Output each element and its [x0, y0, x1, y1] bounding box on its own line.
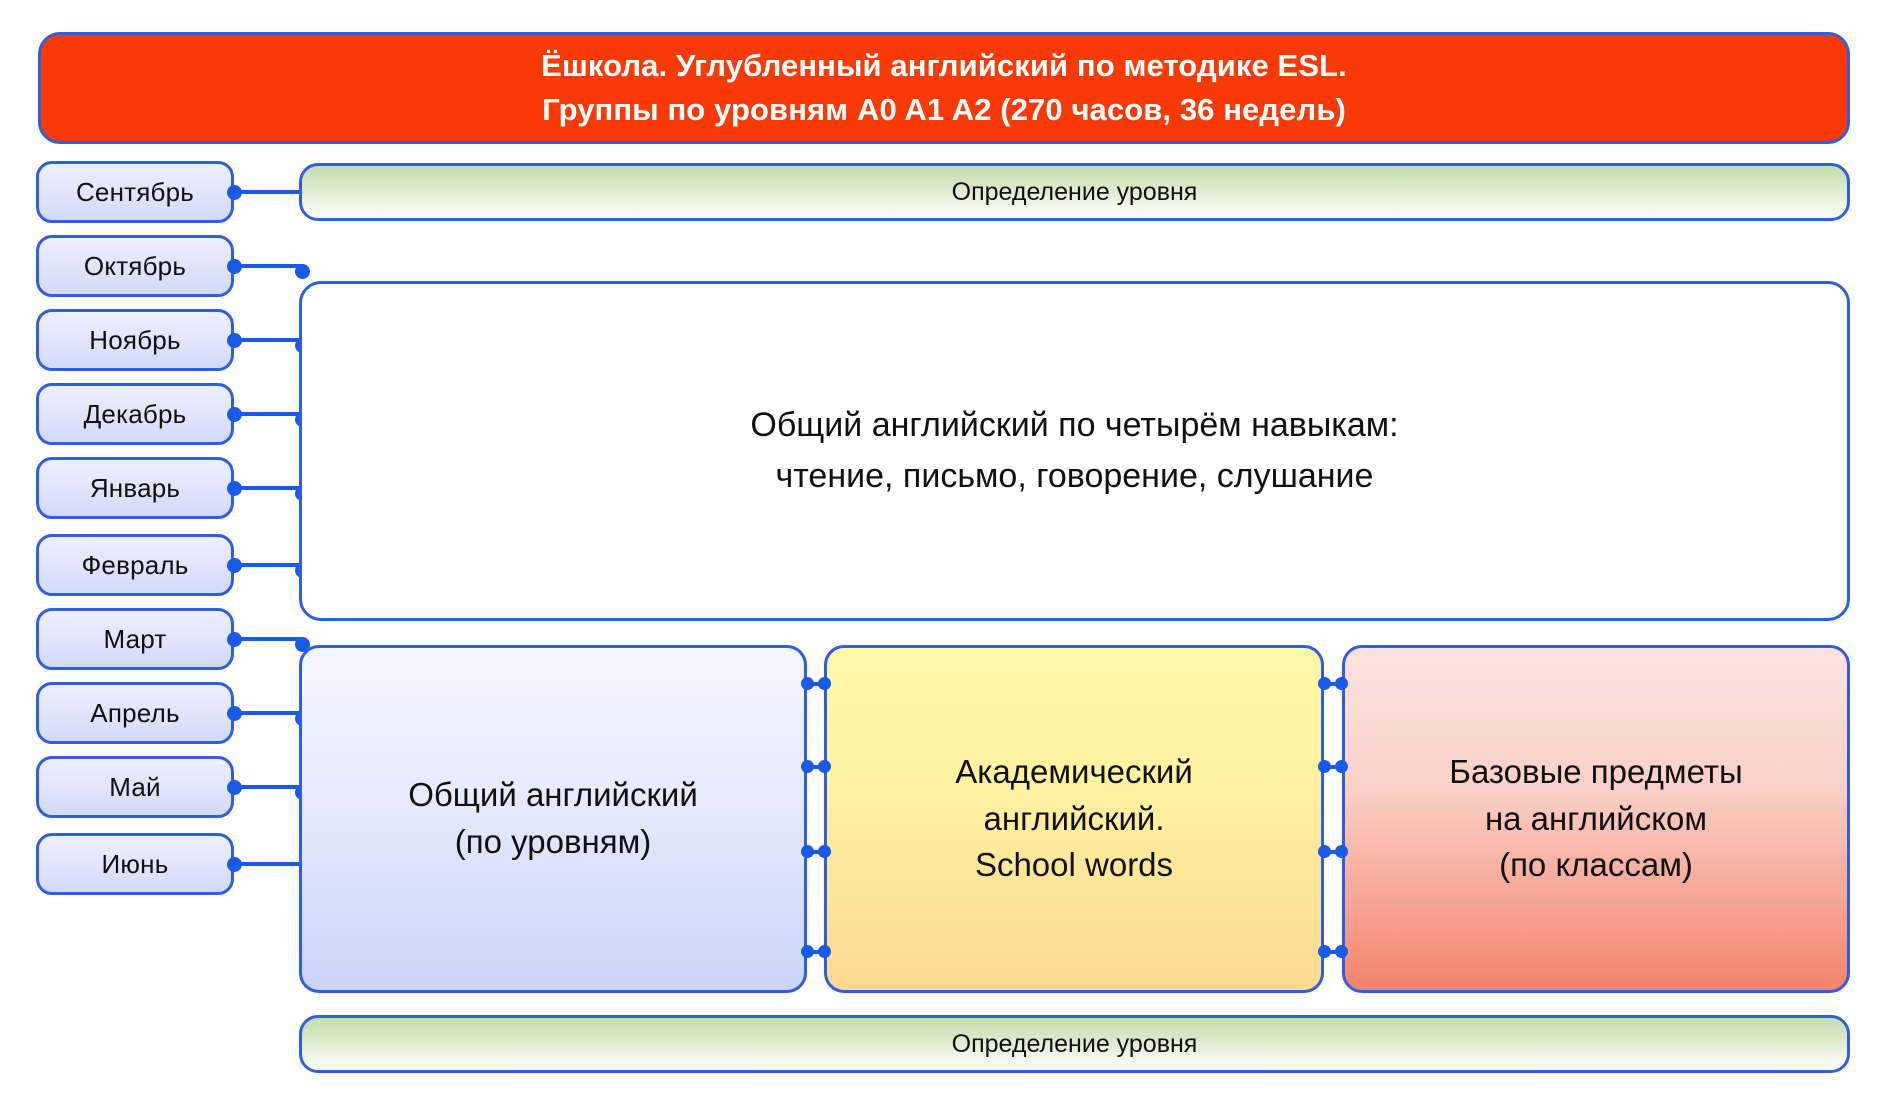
- link-line-april: [234, 711, 302, 715]
- connector-yellow-red-bottom: [1318, 945, 1348, 958]
- link-line-october: [234, 264, 302, 268]
- link-line-december: [234, 412, 302, 416]
- month-pill-january[interactable]: Январь: [36, 457, 234, 519]
- link-line-may: [234, 785, 302, 789]
- link-line-september: [234, 190, 302, 194]
- link-line-february: [234, 563, 302, 567]
- month-label: Март: [103, 624, 166, 655]
- month-label: Январь: [90, 473, 180, 504]
- subject-line-1: Академический: [955, 749, 1193, 796]
- subject-box-academic-english[interactable]: Академический английский. School words: [824, 645, 1324, 993]
- month-pill-october[interactable]: Октябрь: [36, 235, 234, 297]
- general-block-line-1: Общий английский по четырём навыкам:: [750, 400, 1398, 451]
- month-pill-may[interactable]: Май: [36, 756, 234, 818]
- month-label: Ноябрь: [89, 325, 180, 356]
- subject-line-1: Базовые предметы: [1449, 749, 1742, 796]
- month-label: Октябрь: [84, 251, 186, 282]
- header-line-1: Ёшкола. Углубленный английский по методи…: [541, 44, 1347, 88]
- month-pill-september[interactable]: Сентябрь: [36, 161, 234, 223]
- month-pill-november[interactable]: Ноябрь: [36, 309, 234, 371]
- month-pill-april[interactable]: Апрель: [36, 682, 234, 744]
- month-label: Февраль: [81, 550, 188, 581]
- subject-line-3: (по классам): [1499, 842, 1693, 889]
- link-line-november: [234, 338, 302, 342]
- general-english-block: Общий английский по четырём навыкам: чте…: [299, 281, 1850, 621]
- diagram-canvas: Ёшкола. Углубленный английский по методи…: [0, 0, 1890, 1103]
- link-line-march: [234, 637, 302, 641]
- month-label: Сентябрь: [76, 177, 194, 208]
- subject-line-2: на английском: [1485, 796, 1707, 843]
- subject-line-2: (по уровням): [455, 819, 652, 866]
- diagram-header: Ёшкола. Углубленный английский по методи…: [38, 32, 1850, 144]
- connector-yellow-red-mid: [1318, 760, 1348, 773]
- subject-box-general-english[interactable]: Общий английский (по уровням): [299, 645, 807, 993]
- month-pill-march[interactable]: Март: [36, 608, 234, 670]
- link-line-june: [234, 862, 302, 866]
- subject-line-3: School words: [975, 842, 1173, 889]
- subject-box-core-subjects[interactable]: Базовые предметы на английском (по класс…: [1342, 645, 1850, 993]
- month-pill-december[interactable]: Декабрь: [36, 383, 234, 445]
- connector-blue-yellow-top: [801, 677, 831, 690]
- month-pill-june[interactable]: Июнь: [36, 833, 234, 895]
- month-label: Май: [109, 772, 161, 803]
- level-bar-bottom: Определение уровня: [299, 1015, 1850, 1073]
- spine-dot-october: [295, 264, 310, 279]
- header-line-2: Группы по уровням A0 A1 A2 (270 часов, 3…: [542, 88, 1346, 132]
- link-line-january: [234, 486, 302, 490]
- connector-blue-yellow-bottom: [801, 945, 831, 958]
- subject-line-2: английский.: [984, 796, 1165, 843]
- general-block-line-2: чтение, письмо, говорение, слушание: [776, 451, 1374, 502]
- month-label: Апрель: [90, 698, 179, 729]
- month-label: Июнь: [102, 849, 169, 880]
- level-bar-top-label: Определение уровня: [952, 178, 1198, 207]
- connector-yellow-red-top: [1318, 677, 1348, 690]
- level-bar-top: Определение уровня: [299, 163, 1850, 221]
- subject-line-1: Общий английский: [408, 772, 698, 819]
- connector-blue-yellow-mid2: [801, 845, 831, 858]
- connector-blue-yellow-mid: [801, 760, 831, 773]
- month-label: Декабрь: [84, 399, 187, 430]
- connector-yellow-red-mid2: [1318, 845, 1348, 858]
- level-bar-bottom-label: Определение уровня: [952, 1030, 1198, 1059]
- month-pill-february[interactable]: Февраль: [36, 534, 234, 596]
